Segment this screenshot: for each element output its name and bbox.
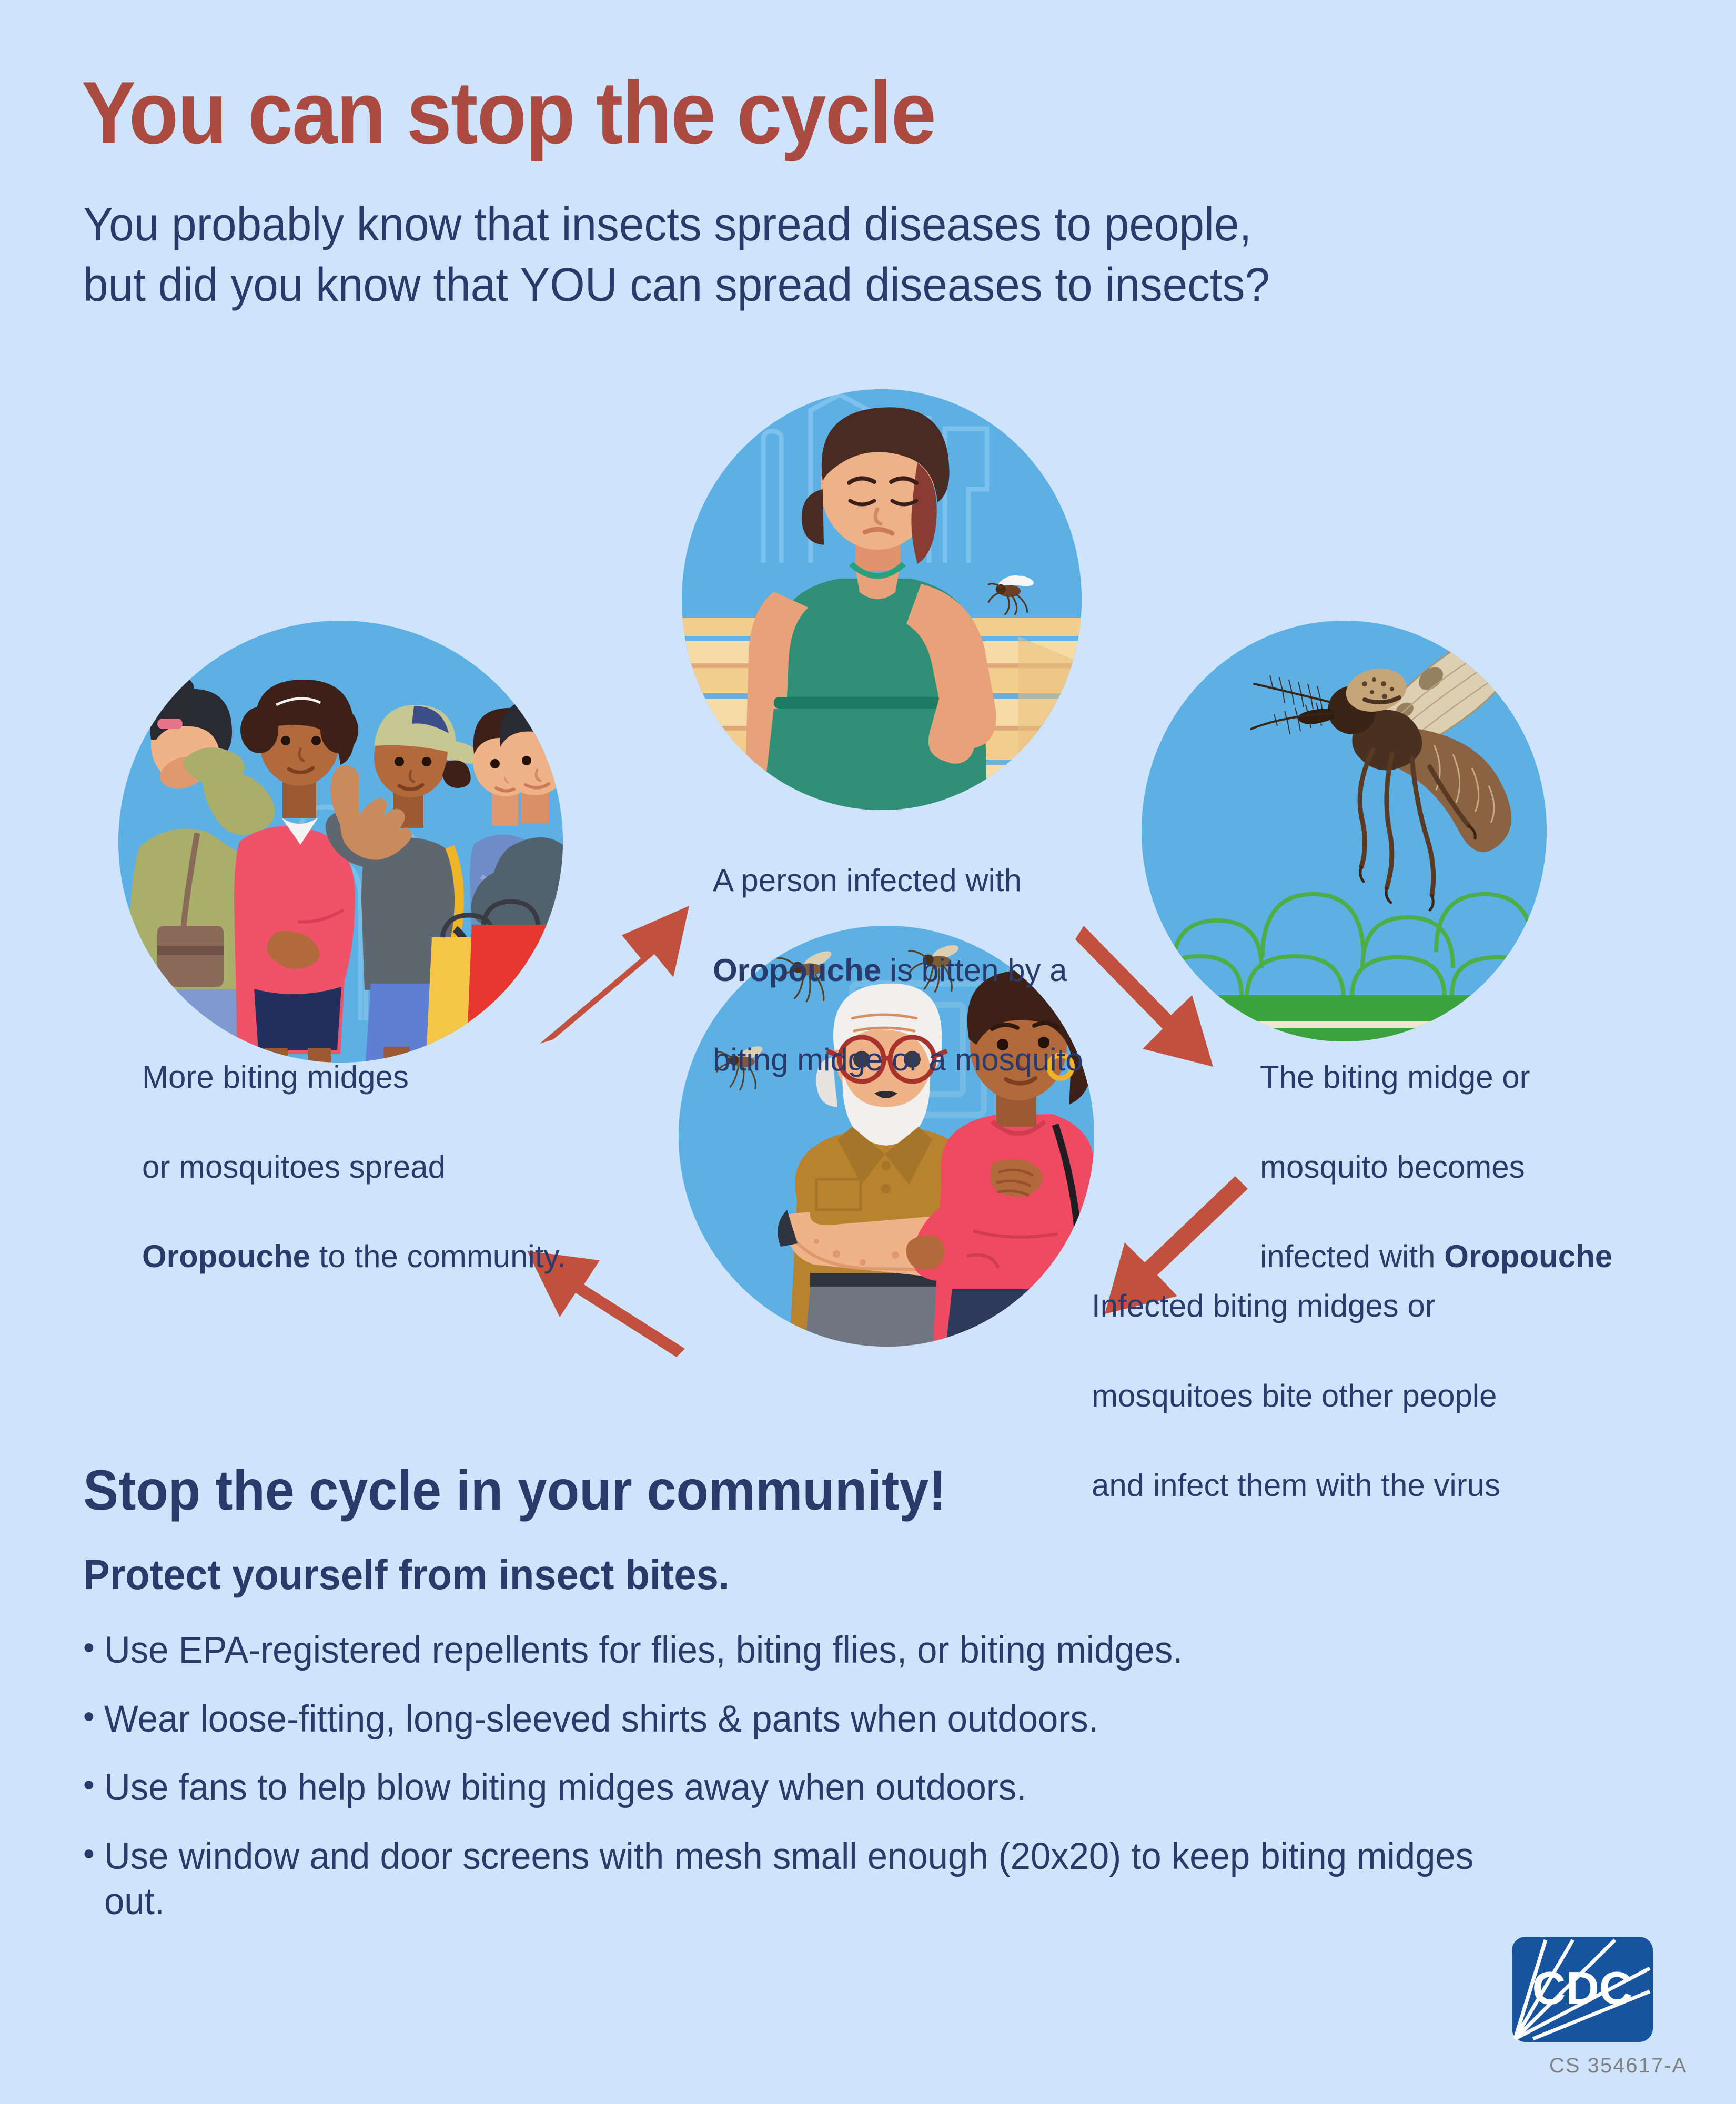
list-item: • Use EPA-registered repellents for flie… [83,1628,1635,1674]
bullet-marker: • [83,1765,104,1805]
caption-bold-term: Oropouche [142,1239,310,1274]
list-item-text: Use EPA-registered repellents for flies,… [104,1628,1183,1674]
caption-line: The biting midge or [1260,1059,1530,1095]
bullet-marker: • [83,1628,104,1668]
trademark-symbol: TM [1637,2030,1648,2038]
list-item-text: Use window and door screens with mesh sm… [104,1834,1512,1925]
caption-line: biting midge or a mosquito [713,1042,1083,1077]
caption-line: A person infected with [713,863,1022,898]
page-title: You can stop the cycle [82,68,935,157]
prevention-heading: Stop the cycle in your community! [83,1457,946,1523]
caption-bold-term: Oropouche [713,953,881,988]
caption-line: mosquito becomes [1260,1149,1525,1185]
caption-community-spread: More biting midges or mosquitoes spread … [142,1010,566,1279]
caption-line: More biting midges [142,1059,409,1095]
list-item: • Use fans to help blow biting midges aw… [83,1765,1635,1811]
cdc-logo: CDC TM [1512,1937,1653,2042]
prevention-bullet-list: • Use EPA-registered repellents for flie… [83,1628,1635,1948]
page-subtitle: You probably know that insects spread di… [83,195,1270,316]
infographic-page: You can stop the cycle You probably know… [0,0,1736,2104]
list-item-text: Wear loose-fitting, long-sleeved shirts … [104,1697,1098,1743]
caption-line: and infect them with the virus [1092,1468,1500,1503]
list-item: • Use window and door screens with mesh … [83,1834,1635,1925]
cycle-illustration-person-bitten [682,389,1082,810]
cdc-logo-text: CDC [1532,1962,1633,2014]
cs-number: CS 354617-A [1549,2054,1687,2078]
caption-line: or mosquitoes spread [142,1149,446,1185]
caption-person-bitten: A person infected with Oropouche is bitt… [713,813,1083,1082]
transmission-cycle-diagram: A person infected with Oropouche is bitt… [0,368,1736,1415]
cycle-illustration-insect-infected [1142,621,1547,1041]
cycle-illustration-community-spread [118,621,563,1063]
prevention-subheading: Protect yourself from insect bites. [83,1551,730,1599]
list-item: • Wear loose-fitting, long-sleeved shirt… [83,1697,1635,1743]
caption-bite-others: Infected biting midges or mosquitoes bit… [1092,1239,1500,1508]
caption-line: mosquitoes bite other people [1092,1378,1497,1413]
list-item-text: Use fans to help blow biting midges away… [104,1765,1026,1811]
bullet-marker: • [83,1697,104,1737]
caption-line: Infected biting midges or [1092,1288,1436,1323]
bullet-marker: • [83,1834,104,1874]
